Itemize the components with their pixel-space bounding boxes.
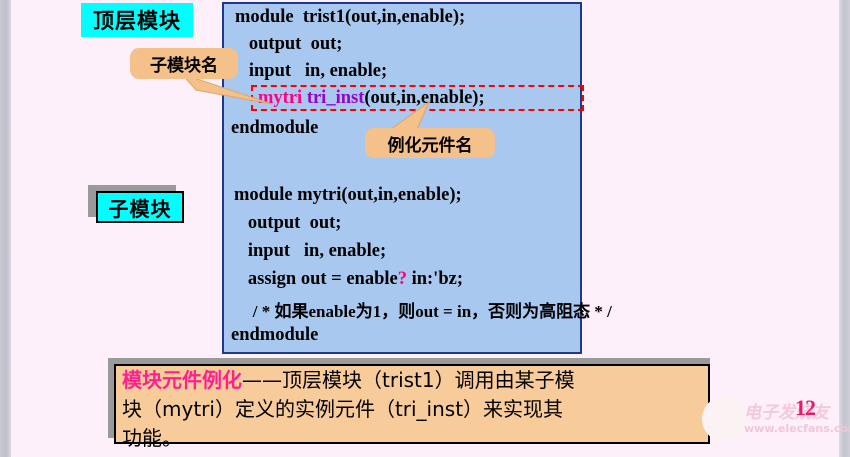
- assign-suffix: in:'bz;: [407, 269, 463, 289]
- label-sub-module: 子模块: [96, 191, 184, 223]
- summary-line1-rest: ——顶层模块（trist1）调用由某子模: [242, 368, 575, 392]
- page-number: 12: [795, 395, 815, 421]
- code-line-top-2: output out;: [235, 34, 342, 55]
- summary-text: 模块元件例化——顶层模块（trist1）调用由某子模块（mytri）定义的实例元…: [122, 366, 712, 453]
- code-line-sub-comment: / * 如果enable为1，则out = in，否则为高阻态 * /: [240, 297, 612, 322]
- code-line-sub-3: input in, enable;: [234, 241, 386, 262]
- code-line-top-1: module trist1(out,in,enable);: [235, 7, 465, 28]
- code-line-sub-1: module mytri(out,in,enable);: [234, 185, 462, 206]
- left-gutter: [0, 0, 11, 457]
- slide-canvas: 顶层模块 子模块 module trist1(out,in,enable); o…: [0, 0, 850, 457]
- summary-highlight: 模块元件例化: [122, 368, 242, 392]
- summary-line2: 块（mytri）定义的实例元件（tri_inst）来实现其: [122, 397, 563, 421]
- code-line-top-endmodule: endmodule: [231, 118, 318, 139]
- assign-prefix: assign out = enable: [234, 269, 398, 289]
- watermark: 电子发烧友 www.elecfans.com: [700, 392, 845, 452]
- watermark-url: www.elecfans.com: [744, 422, 850, 435]
- label-top-module: 顶层模块: [81, 3, 193, 37]
- instance-name-token: tri_inst: [307, 88, 365, 108]
- code-line-sub-2: output out;: [234, 213, 341, 234]
- callout-instance-name: 例化元件名: [365, 128, 495, 158]
- ternary-question-token: ?: [398, 269, 407, 289]
- code-line-sub-assign: assign out = enable? in:'bz;: [234, 269, 463, 290]
- summary-line3: 功能。: [122, 426, 182, 450]
- watermark-brand: 电子发烧友: [744, 398, 829, 423]
- right-gutter: [839, 0, 850, 457]
- code-line-sub-endmodule: endmodule: [231, 325, 318, 346]
- callout-sub-module-name: 子模块名: [130, 48, 238, 79]
